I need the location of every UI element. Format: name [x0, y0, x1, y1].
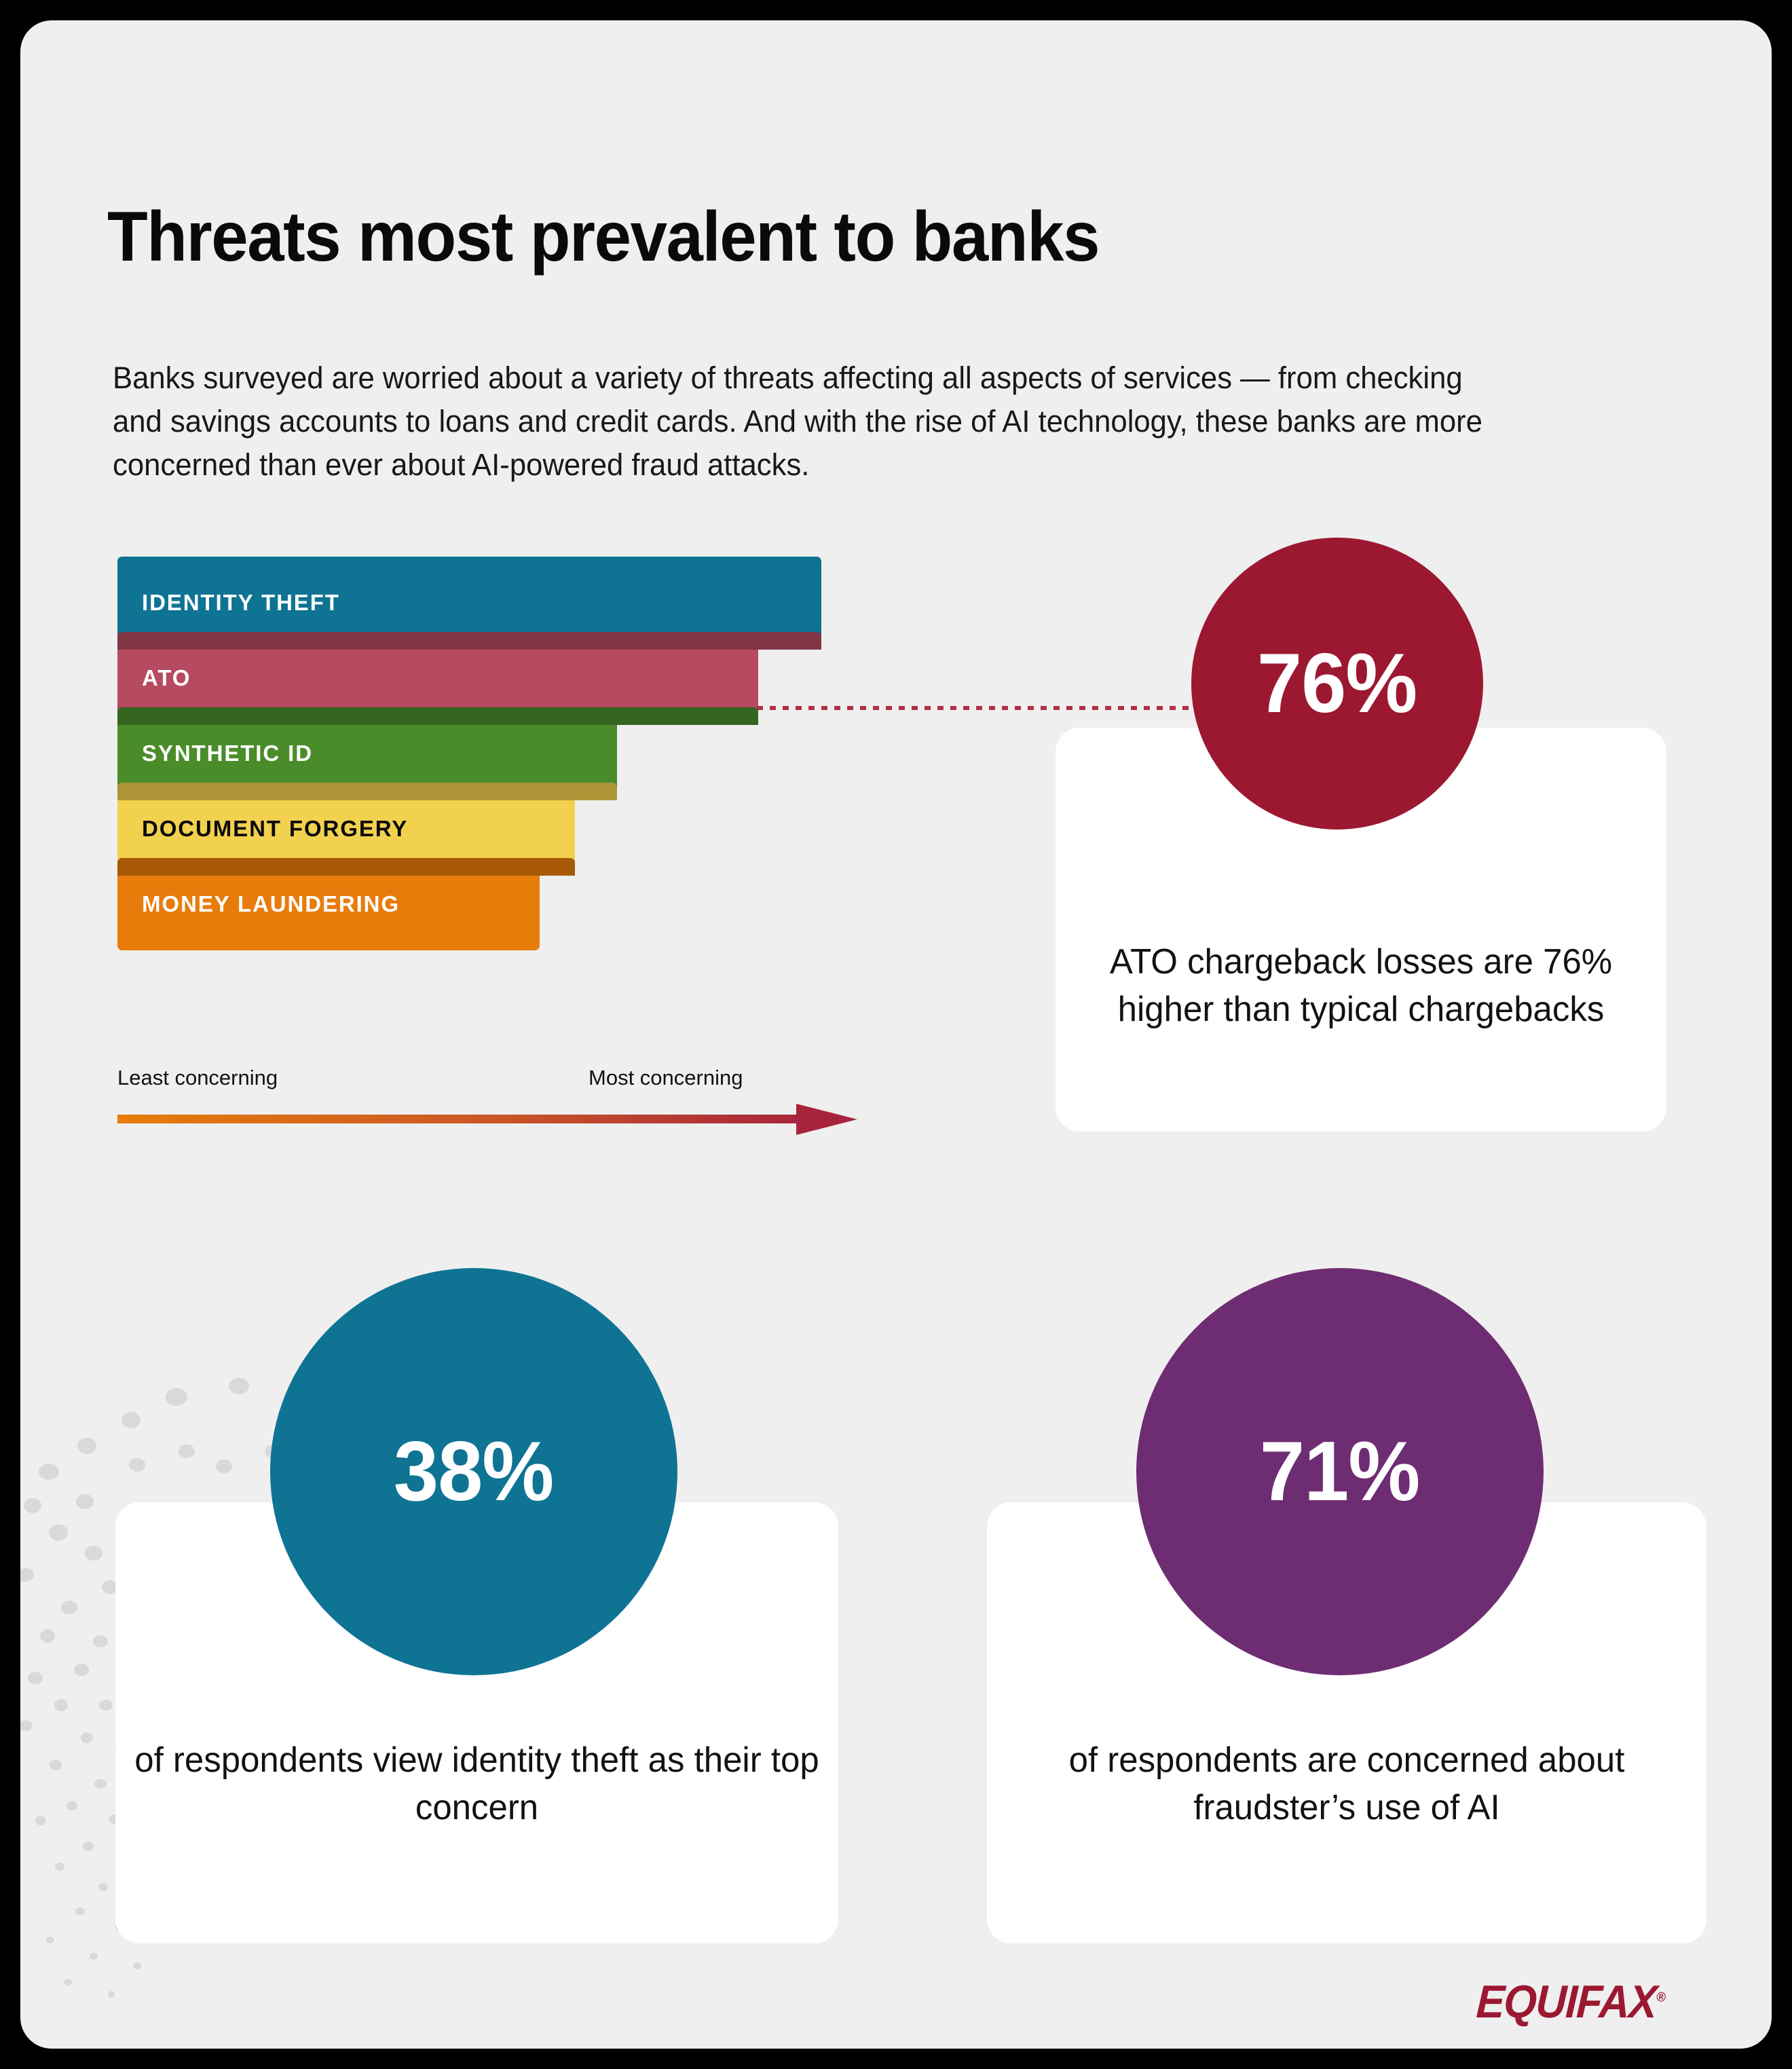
equifax-logo: EQUIFAX®: [1475, 1975, 1666, 2028]
stat-value: 38%: [394, 1423, 553, 1520]
axis-label-least: Least concerning: [117, 1066, 278, 1090]
bar-label: DOCUMENT FORGERY: [142, 816, 408, 842]
infographic-page: Threats most prevalent to banks Banks su…: [0, 0, 1792, 2069]
page-title: Threats most prevalent to banks: [107, 201, 1594, 273]
trademark-icon: ®: [1656, 1990, 1666, 2005]
stat-caption: of respondents view identity theft as th…: [123, 1736, 832, 1831]
stat-value: 71%: [1260, 1423, 1419, 1520]
bar-overlap-cap: [117, 707, 758, 725]
content-panel: Threats most prevalent to banks Banks su…: [20, 20, 1772, 2049]
stat-caption: of respondents are concerned about fraud…: [994, 1736, 1700, 1831]
bar-label: IDENTITY THEFT: [142, 590, 340, 616]
page-subtitle: Banks surveyed are worried about a varie…: [113, 356, 1508, 487]
stat-value: 76%: [1257, 635, 1417, 732]
threat-bar-chart: IDENTITY THEFT ATO SYNTHETIC ID DOCUMENT…: [117, 557, 878, 1039]
bar-overlap-cap: [117, 783, 617, 800]
gradient-arrow-icon: [117, 1101, 857, 1138]
concern-axis: Least concerning Most concerning: [117, 1066, 864, 1096]
equifax-wordmark: EQUIFAX: [1475, 1976, 1658, 2028]
bar-label: ATO: [142, 665, 191, 691]
stat-caption: ATO chargeback losses are 76% higher tha…: [1062, 938, 1660, 1033]
stat-circle-38: 38%: [270, 1268, 677, 1675]
stat-circle-76: 76%: [1191, 538, 1483, 830]
bar-overlap-cap: [117, 632, 821, 650]
bar-overlap-cap: [117, 858, 575, 876]
axis-label-most: Most concerning: [589, 1066, 743, 1090]
bar-label: SYNTHETIC ID: [142, 741, 313, 766]
bar-label: MONEY LAUNDERING: [142, 891, 400, 917]
stat-circle-71: 71%: [1136, 1268, 1544, 1675]
ato-connector-line: [757, 706, 1246, 710]
bar-money-laundering: MONEY LAUNDERING: [117, 858, 540, 950]
